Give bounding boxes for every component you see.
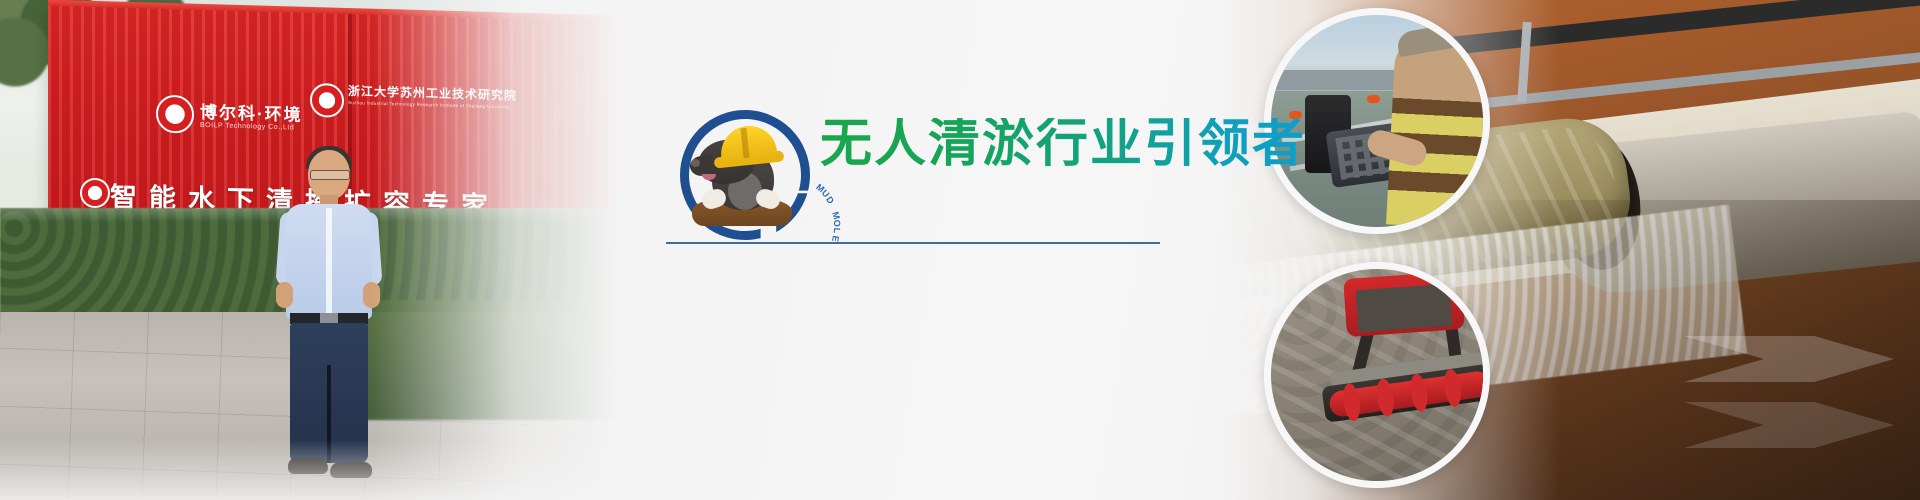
- logo-ring-text: MUD MOLE: [758, 170, 814, 226]
- operator-torso: [1386, 33, 1490, 230]
- container-and-engineer-photo: 博尔科·环境 BOILP Technology Co.,Ltd 浙江大学苏州工业…: [0, 0, 640, 500]
- left-photo-bottom-fade: [0, 440, 640, 500]
- left-photo-fade: [0, 0, 640, 500]
- float-buoy: [1367, 95, 1380, 103]
- mud-mole-logo[interactable]: MUD MOLE: [672, 104, 804, 228]
- center-content: MUD MOLE 无人清淤行业引领者: [660, 96, 1180, 276]
- dredging-robot-photo: [1264, 262, 1490, 488]
- headline-divider: [666, 242, 1160, 244]
- plant-building: [1264, 70, 1403, 90]
- robot-chassis: [1356, 284, 1453, 332]
- hero-banner: 博尔科·环境 BOILP Technology Co.,Ltd 浙江大学苏州工业…: [0, 0, 1920, 500]
- mole-nose: [691, 159, 700, 167]
- banner-headline: 无人清淤行业引领者: [820, 118, 1306, 170]
